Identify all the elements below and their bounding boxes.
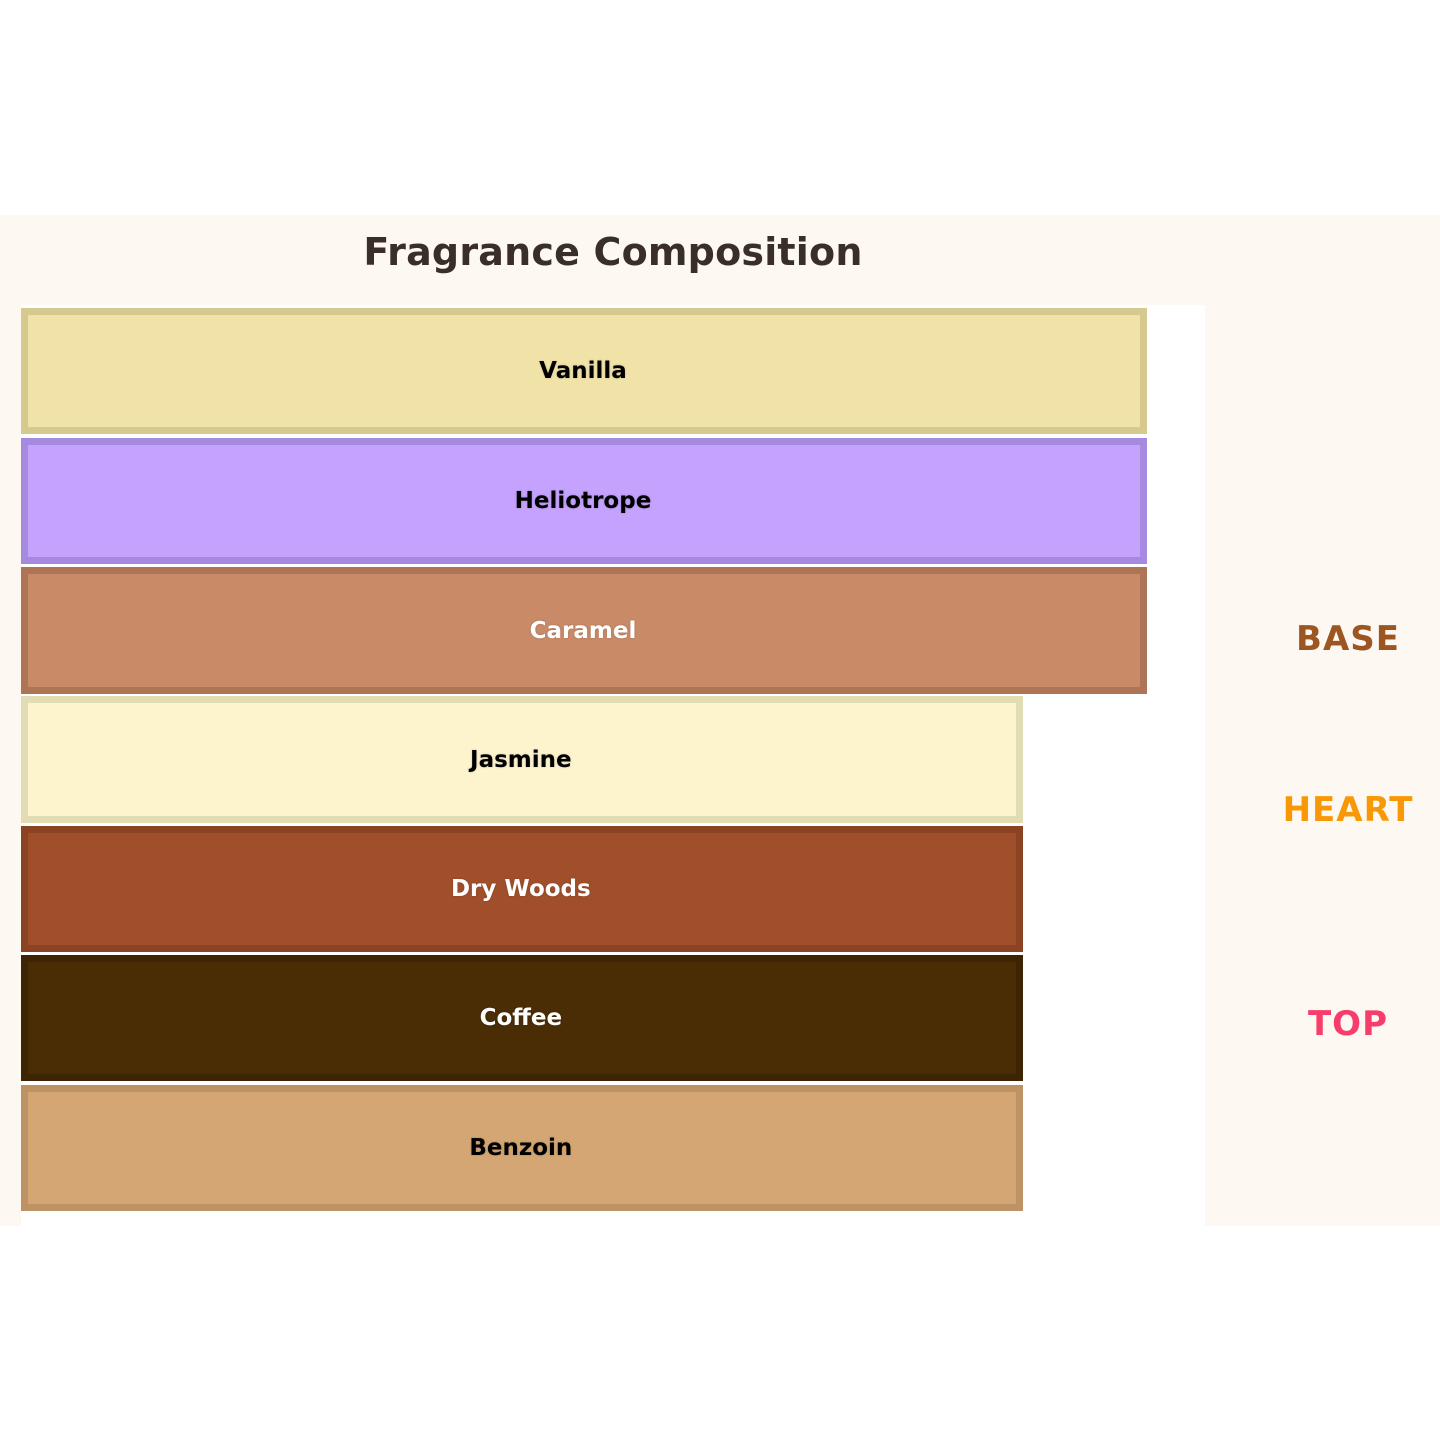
bar-dry-woods[interactable]: Dry Woods bbox=[21, 826, 1023, 952]
plot-area: VanillaHeliotropeCaramelJasmineDry Woods… bbox=[21, 305, 1205, 1226]
bar-label: Jasmine bbox=[470, 747, 572, 773]
bar-vanilla[interactable]: Vanilla bbox=[21, 308, 1147, 434]
bar-label: Coffee bbox=[480, 1005, 563, 1031]
bar-caramel[interactable]: Caramel bbox=[21, 567, 1147, 693]
bar-label: Caramel bbox=[530, 618, 637, 644]
bar-heliotrope[interactable]: Heliotrope bbox=[21, 438, 1147, 564]
group-label-base: BASE bbox=[1296, 619, 1400, 659]
chart-figure: Fragrance Composition VanillaHeliotropeC… bbox=[0, 215, 1440, 1226]
bar-label: Benzoin bbox=[469, 1135, 572, 1161]
group-label-heart: HEART bbox=[1283, 790, 1414, 830]
bar-label: Vanilla bbox=[539, 358, 627, 384]
page-title: Fragrance Composition bbox=[21, 230, 1205, 274]
bar-label: Heliotrope bbox=[515, 488, 652, 514]
bar-label: Dry Woods bbox=[451, 876, 591, 902]
bar-benzoin[interactable]: Benzoin bbox=[21, 1085, 1023, 1211]
bar-coffee[interactable]: Coffee bbox=[21, 955, 1023, 1081]
group-label-top: TOP bbox=[1308, 1004, 1388, 1044]
bar-jasmine[interactable]: Jasmine bbox=[21, 696, 1023, 822]
